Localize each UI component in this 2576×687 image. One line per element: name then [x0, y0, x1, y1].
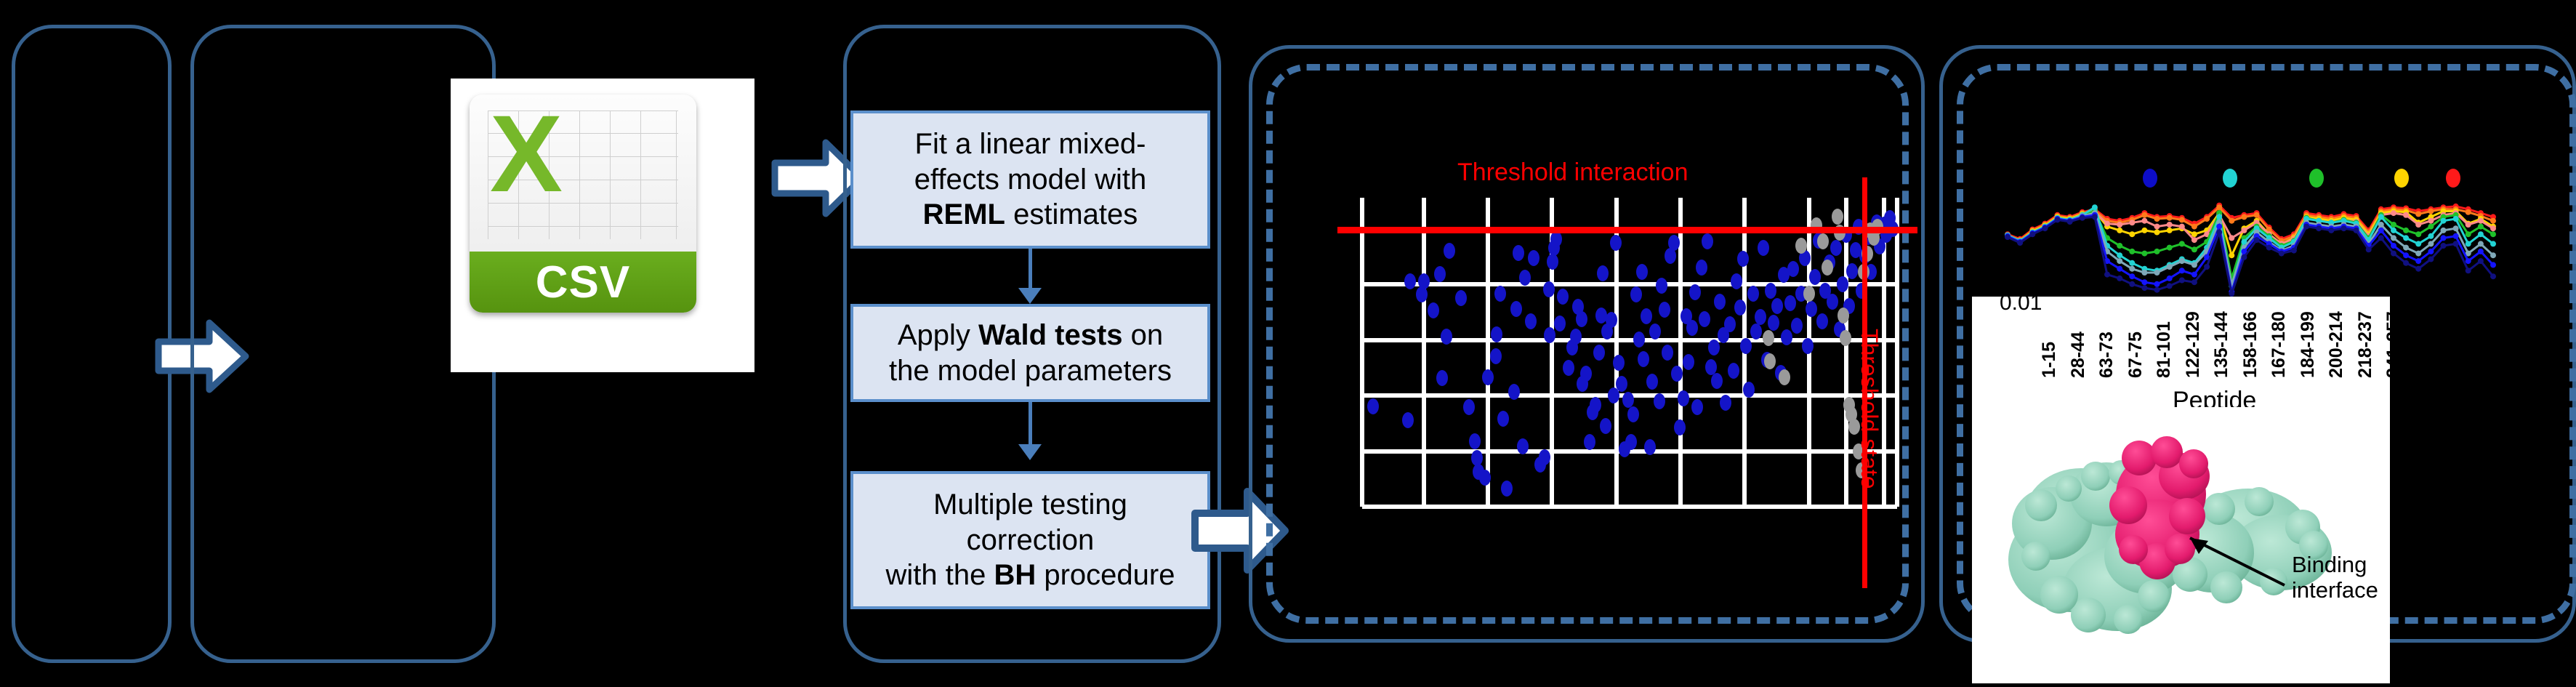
connector-2-head [1018, 444, 1042, 460]
scatter-point-significant [1683, 354, 1694, 370]
peptide-marker [2080, 215, 2085, 221]
scatter-point-significant [1765, 283, 1776, 299]
peptide-marker [2490, 218, 2496, 224]
scatter-point-significant [1771, 298, 1783, 314]
peptide-marker [2279, 251, 2285, 257]
peptide-marker [2154, 249, 2160, 254]
peptide-marker [2415, 258, 2421, 264]
peptide-marker [2191, 272, 2197, 278]
peptide-marker [2478, 218, 2484, 224]
scatter-point-significant [1689, 284, 1701, 300]
peptide-marker [2141, 218, 2147, 224]
peptide-marker [2490, 241, 2496, 246]
peptide-marker [2453, 241, 2459, 246]
scatter-point-significant [1576, 311, 1587, 327]
peptide-tick-label: 1-15 [2039, 342, 2060, 378]
peptide-marker [2216, 214, 2222, 220]
scatter-point-significant [1593, 345, 1605, 361]
mt-line2: correction [967, 524, 1095, 556]
peptide-marker [2254, 237, 2260, 243]
peptide-marker [2204, 264, 2210, 270]
peptide-marker [2403, 252, 2409, 258]
peptide-tick-label: 63-73 [2096, 332, 2117, 378]
peptide-marker [2441, 218, 2447, 224]
scatter-point-significant [1806, 301, 1817, 317]
peptide-marker [2067, 219, 2073, 225]
wald-line2: the model parameters [889, 355, 1172, 387]
peptide-marker [2466, 258, 2471, 264]
peptide-marker [2167, 245, 2173, 251]
peptide-tick-label: 81-101 [2154, 321, 2175, 378]
scatter-point-significant [1638, 351, 1649, 367]
peptide-tick-label: 241-257 [2383, 311, 2404, 378]
legend-dot-timepoint-3 [2309, 169, 2324, 188]
scatter-point-significant [1402, 412, 1414, 428]
peptide-marker [2403, 245, 2409, 251]
scatter-point-significant [1633, 332, 1645, 347]
peptide-marker [2154, 281, 2160, 287]
peptide-lines-svg [1992, 190, 2500, 298]
peptide-marker [2017, 240, 2023, 246]
peptide-marker [2167, 228, 2173, 233]
scatter-point-significant [1404, 273, 1416, 289]
scatter-point-significant [1570, 329, 1582, 345]
binding-label-line2: interface [2292, 577, 2378, 603]
scatter-point-significant [1802, 338, 1814, 354]
mt-line3-post: procedure [1036, 559, 1175, 591]
peptide-marker [2229, 291, 2234, 297]
peptide-marker [2141, 228, 2147, 233]
peptide-marker [2378, 222, 2384, 228]
peptide-marker [2428, 257, 2434, 262]
peptide-marker [2254, 212, 2260, 218]
peptide-marker [2117, 243, 2122, 249]
scatter-point-significant [1714, 294, 1726, 310]
peptide-marker [2478, 241, 2484, 246]
peptide-tick-label: 135-144 [2211, 311, 2232, 378]
peptide-marker [2229, 235, 2234, 241]
peptide-marker [2042, 225, 2048, 231]
scatter-point-significant [1367, 398, 1379, 414]
peptide-marker [2167, 215, 2173, 221]
scatter-point-significant [1494, 286, 1506, 302]
scatter-point-significant [1513, 245, 1524, 261]
scatter-plot-area [1362, 198, 1897, 507]
fit-model-line2: effects model with [914, 164, 1146, 196]
scatter-point-significant [1434, 266, 1446, 282]
scatter-point-significant [1809, 269, 1821, 285]
excel-x-letter: X [474, 99, 579, 234]
peptide-marker [2141, 279, 2147, 285]
connector-1-head [1018, 288, 1042, 304]
scatter-point-significant [1580, 366, 1592, 382]
threshold-interaction-label: Threshold interaction [1457, 158, 1689, 187]
csv-card: X CSV [451, 79, 754, 372]
fit-model-line3-rest: estimates [1005, 198, 1138, 230]
wald-line1-post: on [1123, 319, 1164, 351]
peptide-marker [2179, 241, 2185, 246]
peptide-marker [2428, 241, 2434, 246]
scatter-point-significant [1597, 265, 1609, 281]
peptide-tick-label: 200-214 [2326, 311, 2347, 378]
peptide-y-axis-value: 0.01 [2000, 291, 2042, 316]
legend-dot-timepoint-4 [2394, 169, 2409, 188]
scatter-point-significant [1482, 369, 1494, 385]
peptide-marker [2490, 273, 2496, 279]
csv-file-icon: X CSV [470, 95, 696, 313]
peptide-marker [2478, 249, 2484, 254]
scatter-point-nonsignificant [1817, 233, 1829, 249]
scatter-point-significant [1740, 338, 1752, 354]
scatter-point-significant [1600, 418, 1611, 434]
peptide-marker [2391, 210, 2396, 216]
peptide-marker [2428, 224, 2434, 230]
peptide-marker [2167, 264, 2173, 270]
scatter-point-significant [1469, 433, 1481, 449]
scatter-point-significant [1696, 260, 1707, 276]
peptide-marker [2154, 270, 2160, 276]
legend-dot-timepoint-5 [2446, 169, 2460, 188]
peptide-marker [2391, 251, 2396, 257]
peptide-marker [2490, 225, 2496, 231]
scatter-point-significant [1497, 411, 1509, 427]
scatter-point-significant [1646, 374, 1658, 390]
scatter-point-significant [1455, 290, 1467, 306]
peptide-tick-label: 167-180 [2269, 311, 2290, 378]
grid-line-vertical [1844, 198, 1848, 507]
scatter-point-significant [1428, 302, 1439, 318]
fit-model-line1: Fit a linear mixed- [915, 128, 1146, 160]
scatter-point-nonsignificant [1832, 209, 1843, 225]
scatter-point-significant [1630, 286, 1642, 302]
scatter-point-significant [1787, 261, 1799, 277]
scatter-point-nonsignificant [1838, 308, 1849, 324]
peptide-marker [2179, 217, 2185, 222]
scatter-point-significant [1517, 438, 1529, 454]
peptide-marker [2441, 228, 2447, 233]
threshold-interaction-line [1337, 227, 1917, 233]
peptide-marker [2466, 268, 2471, 273]
scatter-point-significant [1830, 240, 1842, 256]
scatter-point-significant [1610, 235, 1622, 251]
scatter-point-significant [1758, 240, 1769, 256]
peptide-marker [2092, 204, 2098, 210]
peptide-marker [2216, 204, 2222, 210]
peptide-marker [2466, 231, 2471, 237]
peptide-marker [2403, 212, 2409, 218]
peptide-marker [2415, 251, 2421, 257]
scatter-point-significant [1827, 294, 1838, 310]
panel-input [12, 25, 172, 663]
scatter-point-significant [1557, 289, 1569, 305]
peptide-marker [2466, 222, 2471, 228]
peptide-marker [2428, 233, 2434, 239]
scatter-point-significant [1554, 316, 1566, 332]
connector-1 [1029, 249, 1032, 291]
peptide-tick-label: 122-129 [2183, 311, 2204, 378]
peptide-marker [2154, 287, 2160, 293]
peptide-marker [2354, 228, 2359, 233]
peptide-tick-label: 184-199 [2298, 311, 2319, 378]
scatter-point-significant [1662, 345, 1673, 361]
scatter-point-significant [1490, 348, 1502, 364]
scatter-point-significant [1436, 370, 1448, 386]
grid-line-vertical [1486, 198, 1490, 507]
scatter-point-significant [1627, 406, 1639, 422]
scatter-point-significant [1539, 449, 1550, 465]
peptide-marker [2391, 243, 2396, 249]
peptide-marker [2478, 231, 2484, 237]
wald-line1-pre: Apply [898, 319, 978, 351]
scatter-point-significant [1636, 264, 1648, 280]
peptide-marker [2415, 222, 2421, 228]
wald-tests-box[interactable]: Apply Wald tests on the model parameters [850, 304, 1210, 402]
peptide-axis-card: 0.01 1-1528-4463-7367-7581-101122-129135… [1972, 297, 2390, 419]
grid-line-vertical [1895, 198, 1899, 507]
scatter-point-significant [1590, 397, 1601, 413]
scatter-point-significant [1816, 313, 1828, 329]
peptide-marker [2179, 268, 2185, 273]
peptide-marker [2191, 224, 2197, 230]
peptide-marker [2403, 260, 2409, 266]
peptide-marker [2154, 224, 2160, 230]
peptide-marker [2117, 258, 2122, 264]
peptide-tick-label: 158-166 [2240, 311, 2261, 378]
peptide-marker [2216, 230, 2222, 236]
scatter-point-significant [1444, 243, 1455, 259]
peptide-tick-label: 28-44 [2068, 332, 2089, 378]
mt-line3-pre: with the [886, 559, 994, 591]
peptide-marker [2179, 278, 2185, 284]
scatter-point-significant [1686, 320, 1698, 336]
scatter-point-significant [1656, 278, 1667, 294]
volcano-plot: Threshold interaction Threshold state [1337, 138, 1904, 516]
peptide-marker [2229, 252, 2234, 258]
peptide-marker [2415, 231, 2421, 237]
peptide-marker [2167, 276, 2173, 281]
fit-model-box[interactable]: Fit a linear mixed- effects model with R… [850, 111, 1210, 249]
scatter-point-significant [1691, 399, 1703, 415]
scatter-point-significant [1708, 340, 1720, 355]
peptide-marker [2415, 241, 2421, 246]
scatter-point-significant [1616, 376, 1627, 392]
protein-structure-image: Binding interface [1972, 407, 2390, 683]
legend-dot-timepoint-1 [2143, 169, 2157, 188]
peptide-marker [2441, 235, 2447, 241]
peptide-marker [2216, 224, 2222, 230]
peptide-marker [2005, 234, 2011, 240]
fit-model-reml: REML [923, 198, 1005, 230]
scatter-point-significant [1702, 233, 1713, 249]
peptide-marker [2441, 243, 2447, 249]
peptide-marker [2403, 235, 2409, 241]
peptide-marker [2117, 266, 2122, 272]
scatter-point-significant [1755, 309, 1766, 325]
scatter-point-significant [1547, 254, 1558, 270]
peptide-marker [2129, 273, 2135, 279]
peptide-marker [2141, 270, 2147, 276]
peptide-marker [2229, 218, 2234, 224]
peptide-marker [2378, 235, 2384, 241]
peptide-marker [2191, 246, 2197, 252]
grid-line-vertical [1422, 198, 1426, 507]
scatter-point-nonsignificant [1840, 330, 1851, 346]
peptide-marker [2415, 211, 2421, 217]
scatter-point-significant [1791, 318, 1803, 334]
peptide-marker [2179, 224, 2185, 230]
peptide-marker [2241, 228, 2247, 233]
peptide-marker [2129, 260, 2135, 266]
peptide-marker [2341, 225, 2347, 231]
scatter-point-significant [1563, 360, 1574, 376]
panel-csv [190, 25, 496, 663]
scatter-point-significant [1784, 295, 1796, 311]
scatter-point-significant [1699, 311, 1710, 327]
peptide-marker [2167, 222, 2173, 228]
threshold-state-label: Threshold state [1856, 329, 1883, 489]
peptide-marker [2129, 281, 2135, 287]
scatter-point-significant [1508, 384, 1520, 400]
scatter-point-nonsignificant [1822, 260, 1833, 276]
scatter-point-significant [1463, 399, 1475, 415]
scatter-point-significant [1510, 301, 1522, 317]
scatter-point-significant [1731, 273, 1742, 289]
peptide-marker [2378, 214, 2384, 220]
peptide-marker [2167, 283, 2173, 289]
scatter-point-significant [1654, 393, 1665, 409]
mt-line1: Multiple testing [933, 489, 1127, 521]
scatter-point-significant [1720, 395, 1731, 411]
peptide-marker [2378, 228, 2384, 233]
scatter-point-significant [1613, 355, 1625, 371]
scatter-point-nonsignificant [1763, 330, 1774, 346]
peptide-tick-label: 218-237 [2355, 311, 2376, 378]
peptide-marker [2154, 216, 2160, 222]
peptide-marker [2055, 217, 2061, 222]
peptide-tick-label: 67-75 [2125, 332, 2146, 378]
peptide-marker [2191, 262, 2197, 268]
peptide-marker [2117, 276, 2122, 281]
scatter-point-significant [1846, 263, 1858, 279]
scatter-point-significant [1543, 281, 1555, 297]
peptide-tick-label: 277-284 [2441, 311, 2462, 378]
scatter-point-significant [1781, 329, 1792, 345]
scatter-point-nonsignificant [1803, 286, 1815, 302]
peptide-marker [2117, 228, 2122, 233]
scatter-point-significant [1737, 251, 1749, 267]
connector-2 [1029, 402, 1032, 447]
scatter-point-significant [1528, 250, 1539, 266]
scatter-point-nonsignificant [1795, 238, 1807, 254]
peptide-marker [2154, 230, 2160, 236]
scatter-point-significant [1479, 470, 1491, 486]
binding-label-line1: Binding [2292, 552, 2367, 577]
peptide-marker [2453, 216, 2459, 222]
peptide-marker [2291, 248, 2297, 254]
peptide-marker [2316, 225, 2322, 231]
scatter-point-significant [1671, 366, 1683, 382]
peptide-marker [2366, 246, 2372, 252]
peptide-marker [2415, 266, 2421, 272]
grid-line-vertical [1360, 198, 1364, 507]
peptide-marker [2466, 209, 2471, 215]
scatter-point-nonsignificant [1764, 353, 1776, 369]
peptide-marker [2117, 222, 2122, 228]
scatter-point-significant [1418, 273, 1430, 289]
grid-line-horizontal [1362, 505, 1897, 509]
peptide-marker [2141, 285, 2147, 291]
scatter-point-significant [1441, 329, 1452, 345]
peptide-marker [2129, 231, 2135, 237]
peptide-marker [2490, 252, 2496, 258]
peptide-marker [2266, 245, 2272, 251]
peptide-marker [2129, 220, 2135, 225]
scatter-point-significant [1544, 327, 1555, 343]
scatter-point-significant [1668, 235, 1680, 251]
legend-dot-timepoint-2 [2223, 169, 2237, 188]
scatter-point-significant [1501, 481, 1513, 497]
peptide-marker [2129, 266, 2135, 272]
wald-bold: Wald tests [978, 319, 1123, 351]
peptide-marker [2104, 272, 2110, 278]
scatter-point-significant [1728, 363, 1739, 379]
figure-canvas: X CSV Fit a linear mixed- effects model … [0, 0, 2576, 687]
scatter-point-significant [1747, 286, 1759, 302]
peptide-uptake-plot [1992, 145, 2500, 298]
scatter-point-significant [1550, 231, 1562, 247]
peptide-marker [2466, 241, 2471, 246]
peptide-marker [2104, 221, 2110, 227]
binding-interface-label: Binding interface [2292, 553, 2378, 603]
peptide-marker [2241, 254, 2247, 260]
scatter-point-significant [1768, 315, 1779, 331]
peptide-marker [2428, 209, 2434, 214]
peptide-marker [2428, 218, 2434, 224]
peptide-marker [2204, 216, 2210, 222]
csv-band-label: CSV [470, 252, 696, 313]
scatter-point-nonsignificant [1779, 369, 1790, 385]
scatter-point-significant [1641, 308, 1652, 324]
scatter-point-significant [1678, 390, 1689, 406]
scatter-point-significant [1625, 434, 1637, 450]
peptide-marker [2303, 224, 2309, 230]
peptide-marker [2328, 228, 2334, 233]
peptide-marker [2029, 231, 2035, 237]
peptide-marker [2092, 214, 2098, 220]
peptide-marker [2141, 212, 2147, 218]
scatter-point-significant [1711, 373, 1723, 389]
scatter-point-significant [1734, 300, 1746, 316]
peptide-marker [2191, 279, 2197, 285]
peptide-marker [2391, 235, 2396, 241]
scatter-point-significant [1525, 313, 1537, 329]
peptide-marker [2191, 237, 2197, 243]
peptide-marker [2453, 233, 2459, 239]
scatter-point-significant [1837, 276, 1848, 292]
peptide-marker [2453, 225, 2459, 231]
peptide-marker [2129, 249, 2135, 254]
peptide-marker [2490, 231, 2496, 237]
multiple-testing-box[interactable]: Multiple testing correction with the BH … [850, 471, 1210, 609]
peptide-marker [2478, 224, 2484, 230]
scatter-point-significant [1584, 434, 1595, 450]
peptide-marker [2391, 228, 2396, 233]
peptide-marker [2490, 262, 2496, 268]
peptide-marker [2403, 228, 2409, 233]
mt-bh: BH [994, 559, 1036, 591]
scatter-point-significant [1659, 302, 1670, 318]
peptide-marker [2428, 249, 2434, 254]
